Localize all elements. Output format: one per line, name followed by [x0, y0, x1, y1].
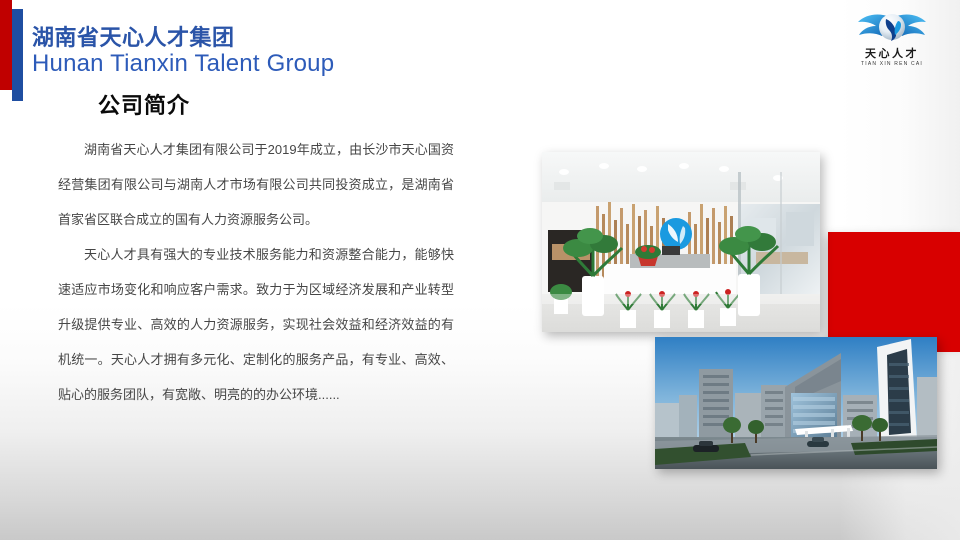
company-description: 湖南省天心人才集团有限公司于2019年成立，由长沙市天心国资经营集团有限公司与湖…: [58, 132, 454, 412]
photo-office-lobby: [542, 152, 820, 332]
paragraph-1: 湖南省天心人才集团有限公司于2019年成立，由长沙市天心国资经营集团有限公司与湖…: [58, 132, 454, 237]
accent-bar-blue: [12, 9, 23, 101]
accent-bar-red: [0, 0, 12, 90]
photo-office-building: [655, 337, 937, 469]
company-title-english: Hunan Tianxin Talent Group: [32, 51, 334, 76]
logo-name-chinese: 天心人才: [846, 49, 938, 60]
title-block: 湖南省天心人才集团 Hunan Tianxin Talent Group: [32, 26, 334, 77]
office-building-illustration: [655, 337, 937, 469]
section-subtitle: 公司简介: [98, 88, 190, 120]
slide-canvas: 湖南省天心人才集团 Hunan Tianxin Talent Group 公司简…: [0, 0, 960, 540]
eagle-icon: [846, 8, 938, 48]
company-title-chinese: 湖南省天心人才集团: [32, 26, 334, 49]
paragraph-2: 天心人才具有强大的专业技术服务能力和资源整合能力，能够快速适应市场变化和响应客户…: [58, 237, 454, 412]
office-lobby-illustration: [542, 152, 820, 332]
company-logo: 天心人才 TIAN XIN REN CAI: [846, 8, 938, 70]
logo-name-english: TIAN XIN REN CAI: [846, 62, 938, 67]
decorative-red-block: [828, 232, 960, 352]
